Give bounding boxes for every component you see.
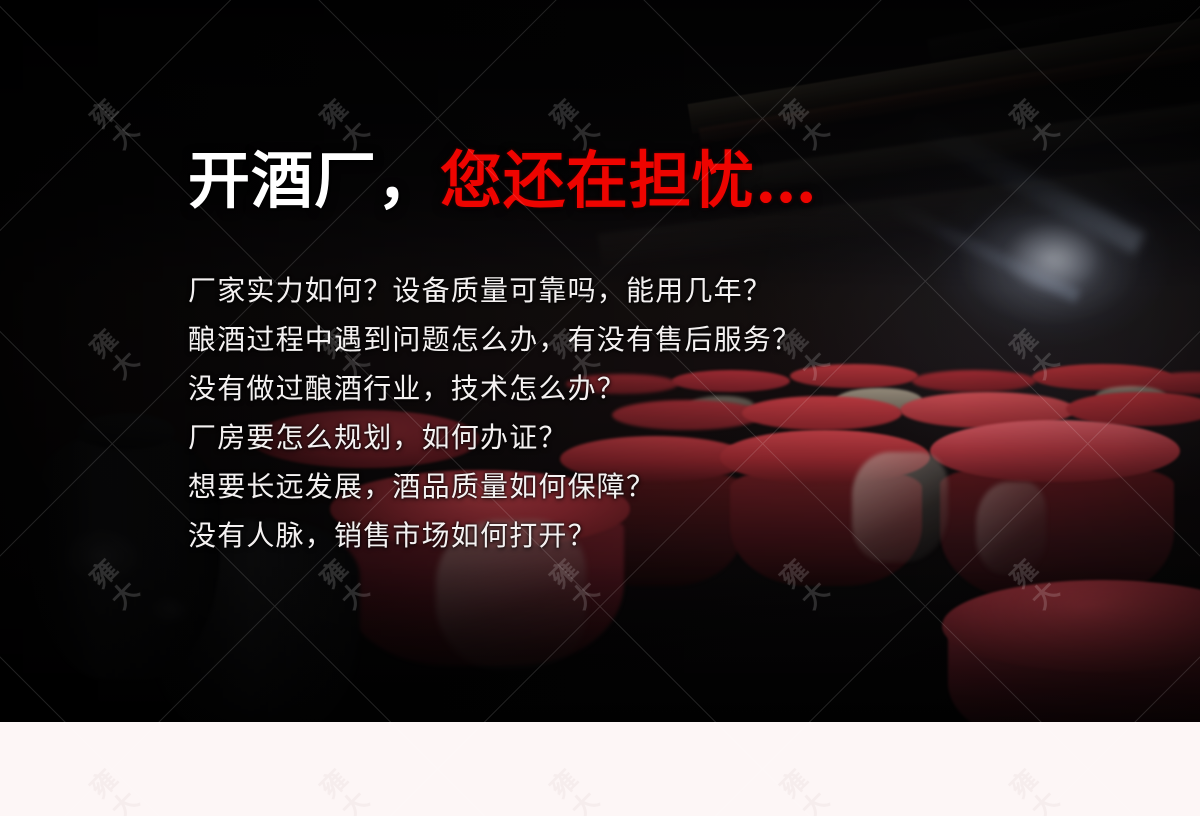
concern-list: 厂家实力如何？设备质量可靠吗，能用几年？ 酿酒过程中遇到问题怎么办，有没有售后服… bbox=[188, 266, 1088, 560]
headline-white-segment: 开酒厂， bbox=[188, 144, 440, 217]
concern-list-item: 酿酒过程中遇到问题怎么办，有没有售后服务？ bbox=[188, 315, 1088, 364]
concern-list-item: 没有人脉，销售市场如何打开？ bbox=[188, 511, 1088, 560]
concern-list-item: 厂房要怎么规划，如何办证？ bbox=[188, 413, 1088, 462]
headline-red-segment: 您还在担忧… bbox=[440, 144, 818, 217]
concern-list-item: 厂家实力如何？设备质量可靠吗，能用几年？ bbox=[188, 266, 1088, 315]
lower-blank-panel bbox=[0, 722, 1200, 816]
hero-copy-block: 开酒厂，您还在担忧… 厂家实力如何？设备质量可靠吗，能用几年？ 酿酒过程中遇到问… bbox=[188, 146, 1088, 560]
page-root: 开酒厂，您还在担忧… 厂家实力如何？设备质量可靠吗，能用几年？ 酿酒过程中遇到问… bbox=[0, 0, 1200, 816]
concern-list-item: 没有做过酿酒行业，技术怎么办？ bbox=[188, 364, 1088, 413]
page-title: 开酒厂，您还在担忧… bbox=[188, 146, 1088, 216]
hero-banner: 开酒厂，您还在担忧… 厂家实力如何？设备质量可靠吗，能用几年？ 酿酒过程中遇到问… bbox=[0, 0, 1200, 722]
concern-list-item: 想要长远发展，酒品质量如何保障？ bbox=[188, 462, 1088, 511]
